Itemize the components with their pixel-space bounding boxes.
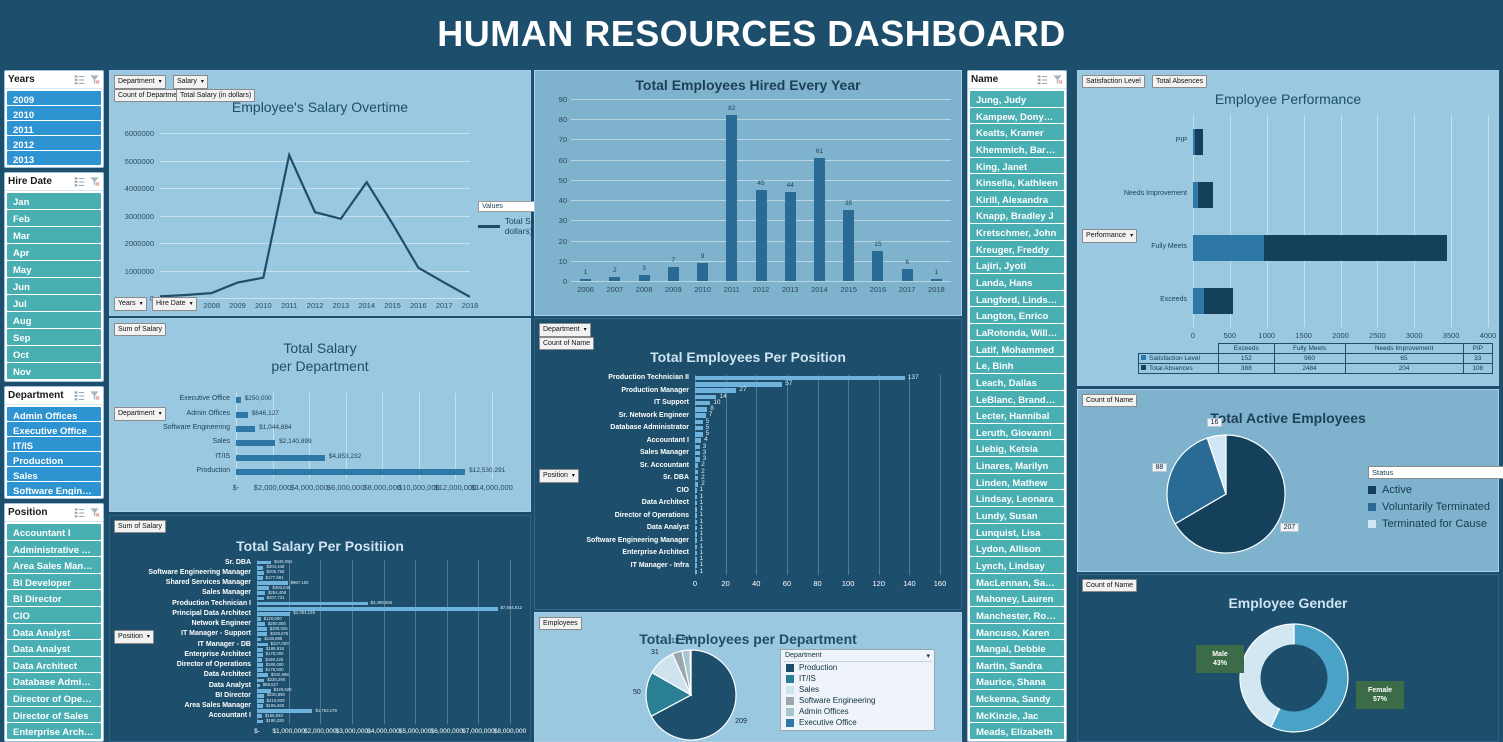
slicer-item[interactable]: Kampew, Donysha (970, 108, 1064, 124)
slicer-item[interactable]: Leach, Dallas (970, 374, 1064, 390)
multi-select-icon[interactable] (1037, 74, 1048, 85)
slicer-item[interactable]: Manchester, Robyn (970, 607, 1064, 623)
slicer-position-icons[interactable] (74, 507, 100, 518)
slicer-item[interactable]: Jan (7, 193, 101, 209)
slicer-item[interactable]: May (7, 261, 101, 277)
slicer-item[interactable]: Lindsay, Leonara (970, 490, 1064, 506)
slicer-item[interactable]: Latif, Mohammed (970, 341, 1064, 357)
legend-color-swatch (1368, 503, 1376, 511)
legend-rows: ProductionIT/ISSalesSoftware Engineering… (783, 662, 932, 728)
bar-value-label: $1,044,884 (259, 424, 292, 431)
gridline (571, 119, 951, 120)
gridline (571, 281, 951, 282)
slicer-item[interactable]: Sep (7, 329, 101, 345)
slicer-hire-date[interactable]: Hire Date JanFebMarAprMayJunJulAugSepOct… (4, 172, 104, 382)
bar (257, 591, 265, 595)
chart-title-line1: Total Salary (110, 339, 530, 357)
bar (814, 158, 825, 281)
gridline (455, 393, 456, 479)
slicer-item[interactable]: Lecter, Hannibal (970, 407, 1064, 423)
chevron-down-icon[interactable]: ▾ (926, 652, 930, 660)
legend-color-swatch (786, 686, 794, 694)
chart-title-line2: per Department (110, 357, 530, 375)
legend-item[interactable]: Active (1368, 484, 1503, 496)
gridline (787, 375, 788, 575)
slicer-name[interactable]: Name Jung, JudyKampew, DonyshaKeatts, Kr… (967, 70, 1067, 742)
bar (695, 545, 697, 550)
category-label: BI Director (61, 692, 251, 699)
field-button-total-absences[interactable]: Total Absences (1152, 75, 1207, 88)
slicer-item[interactable]: Langton, Enrico (970, 307, 1064, 323)
y-tick-label: 2000000 (94, 239, 154, 248)
category-label: Network Engineer (61, 620, 251, 627)
x-tick-label: 2010 (688, 285, 717, 294)
bar-value-label: $195,460 (266, 703, 284, 708)
slicer-item[interactable]: Jung, Judy (970, 91, 1064, 107)
legend-item: Software Engineering (783, 695, 932, 706)
category-label: Director of Operations (61, 661, 251, 668)
chevron-down-icon: ▾ (159, 79, 162, 85)
bar (695, 420, 703, 425)
bar (697, 263, 708, 281)
bar-plot-area: $-$1,000,000$2,000,000$3,000,000$4,000,0… (257, 560, 510, 724)
bar-value-label: $1,753,179 (315, 708, 337, 713)
y-tick-label: 80 (545, 115, 567, 124)
bar (257, 684, 260, 688)
pie-svg (1166, 434, 1286, 554)
multi-select-icon[interactable] (74, 74, 85, 85)
bar (843, 210, 854, 281)
slicer-item[interactable]: 2010 (7, 106, 101, 120)
status-legend[interactable]: Status ▾ ActiveVoluntarily TerminatedTer… (1368, 466, 1503, 530)
legend-color-swatch (786, 719, 794, 727)
pie-svg (645, 649, 737, 741)
gridline (571, 99, 951, 100)
gridline (848, 375, 849, 575)
x-tick-label: 2008 (199, 301, 225, 310)
table-header-row: ExceedsFully MeetsNeeds ImprovementPIP (1139, 344, 1493, 354)
legend-item: Executive Office (783, 717, 932, 728)
y-tick-label: 40 (545, 196, 567, 205)
x-tick-label: 2008 (629, 285, 658, 294)
slicer-item[interactable]: Landa, Hans (970, 274, 1064, 290)
bar (695, 526, 697, 531)
category-label: CIO (514, 487, 689, 494)
x-tick-label: 2011 (717, 285, 746, 294)
bar-value-label: 45 (747, 180, 776, 187)
gender-male-percent: 43% (1202, 659, 1238, 668)
slicer-name-list[interactable]: Jung, JudyKampew, DonyshaKeatts, KramerK… (968, 89, 1066, 741)
x-tick-label: $14,000,000 (466, 483, 518, 492)
slicer-item[interactable]: Accountant I (7, 524, 101, 540)
x-tick-label: 500 (1214, 331, 1246, 340)
bar-value-label: $4,853,232 (329, 453, 362, 460)
bar-value-label: $7,604,812 (501, 605, 523, 610)
slicer-name-icons[interactable] (1037, 74, 1063, 85)
status-select-value: Status (1372, 468, 1393, 477)
gender-label-male: Male 43% (1196, 645, 1244, 673)
slicer-item[interactable]: Martin, Sandra (970, 657, 1064, 673)
chart-title: Total Salary per Department (110, 333, 530, 375)
legend-item[interactable]: Terminated for Cause (1368, 518, 1503, 530)
donut-plot-area (1239, 623, 1349, 733)
gridline (384, 560, 385, 724)
slicer-years-icons[interactable] (74, 74, 100, 85)
bar (236, 426, 255, 432)
x-tick-label: 2016 (863, 285, 892, 294)
slicer-item[interactable]: Apr (7, 244, 101, 260)
x-tick-label: 2006 (571, 285, 600, 294)
category-label: Needs Improvement (1062, 190, 1187, 197)
chevron-down-icon: ▾ (584, 327, 587, 333)
bar-value-label: 27 (739, 386, 746, 393)
gridline (236, 393, 237, 479)
bar-value-label: 2 (600, 267, 629, 274)
bar (257, 597, 264, 601)
slicer-item[interactable]: Kreuger, Freddy (970, 241, 1064, 257)
table-corner (1139, 344, 1219, 354)
bar (257, 653, 263, 657)
slicer-item[interactable]: Mckenna, Sandy (970, 690, 1064, 706)
bar (257, 694, 264, 698)
x-tick-label: 3000 (1398, 331, 1430, 340)
slicer-item[interactable]: Le, Binh (970, 357, 1064, 373)
bar-segment (1198, 182, 1213, 208)
slicer-department-list[interactable]: Admin OfficesExecutive OfficeIT/ISProduc… (5, 405, 103, 498)
gridline (909, 375, 910, 575)
gridline (1488, 115, 1489, 327)
field-button-department[interactable]: Department▾ (114, 75, 166, 89)
y-tick-label: 10 (545, 257, 567, 266)
x-tick-label: 100 (836, 579, 860, 588)
category-label: IT Manager - DB (61, 641, 251, 648)
clear-filter-icon[interactable] (89, 507, 100, 518)
field-button-hire-date[interactable]: Hire Date▾ (152, 297, 197, 311)
table-row: Total Absences3882484204108 (1139, 364, 1493, 374)
gender-male-name: Male (1202, 650, 1238, 659)
slicer-item[interactable]: Administrative Assist... (7, 541, 101, 557)
slicer-item[interactable]: Leruth, Giovanni (970, 424, 1064, 440)
gridline (756, 375, 757, 575)
pie-value-label: 88 (1152, 463, 1168, 472)
field-button-satisfaction-level[interactable]: Satisfaction Level (1082, 75, 1145, 88)
slicer-item[interactable]: Kretschmer, John (970, 224, 1064, 240)
slicer-item[interactable]: Lajiri, Jyoti (970, 257, 1064, 273)
x-tick-label: 60 (775, 579, 799, 588)
line-plot-area: 0100000020000003000000400000050000006000… (160, 133, 470, 298)
field-button-department-legend[interactable]: Department▾ (539, 323, 591, 337)
field-button-salary[interactable]: Salary▾ (173, 75, 208, 89)
gridline (879, 375, 880, 575)
chevron-down-icon: ▾ (140, 301, 143, 307)
slicer-hire-date-list[interactable]: JanFebMarAprMayJunJulAugSepOctNov (5, 191, 103, 381)
x-tick-label: 80 (806, 579, 830, 588)
category-label: Data Architect (61, 671, 251, 678)
slicer-item[interactable]: Mahoney, Lauren (970, 590, 1064, 606)
y-tick-label: 3000000 (94, 212, 154, 221)
field-button-sum-of-salary[interactable]: Sum of Salary (114, 323, 166, 336)
legend-item: Production (783, 662, 932, 673)
chevron-down-icon: ▾ (190, 301, 193, 307)
category-label: Director of Operations (514, 512, 689, 519)
slicer-item[interactable]: Knapp, Bradley J (970, 207, 1064, 223)
x-tick-label: 2010 (250, 301, 276, 310)
slicer-item[interactable]: Mangal, Debbie (970, 640, 1064, 656)
gridline (346, 393, 347, 479)
category-label: Software Engineering (80, 424, 230, 431)
department-pie-legend[interactable]: Department ▾ ProductionIT/ISSalesSoftwar… (780, 649, 935, 731)
category-label: Production Manager (514, 387, 689, 394)
bar (257, 576, 263, 580)
table-row-label: Satisfaction Level (1139, 354, 1219, 364)
legend-label: Software Engineering (799, 696, 876, 705)
category-label: Fully Meets (1062, 243, 1187, 250)
bar-segment (1193, 288, 1204, 314)
slicer-item[interactable]: Jul (7, 295, 101, 311)
table-cell: 2484 (1274, 364, 1345, 374)
slicer-item[interactable]: 2013 (7, 151, 101, 165)
series-color-swatch (1141, 355, 1146, 360)
slicer-item[interactable]: LaRotonda, William (970, 324, 1064, 340)
bar (695, 457, 700, 462)
slicer-item[interactable]: Nov (7, 363, 101, 379)
slicer-item[interactable]: Linden, Mathew (970, 474, 1064, 490)
field-button-performance-axis[interactable]: Performance▾ (1082, 229, 1137, 243)
slicer-years-title: Years (8, 74, 74, 85)
bar (695, 432, 703, 437)
bar-plot-area: $-$2,000,000$4,000,000$6,000,000$8,000,0… (236, 393, 492, 479)
gridline (1414, 115, 1415, 327)
category-label: Admin Offices (80, 410, 230, 417)
x-tick-label: 2013 (328, 301, 354, 310)
slicer-item[interactable]: Software Engineering (7, 482, 101, 496)
x-tick-label: 2000 (1325, 331, 1357, 340)
bar (931, 279, 942, 281)
slicer-item[interactable]: Enterprise Architect (7, 723, 101, 739)
bar-value-label: 15 (863, 241, 892, 248)
gridline (309, 393, 310, 479)
bar (609, 277, 620, 281)
bar (257, 699, 264, 703)
slicer-item[interactable]: 2011 (7, 121, 101, 135)
legend-header[interactable]: Department ▾ (783, 652, 932, 662)
gender-female-percent: 57% (1362, 695, 1398, 704)
legend-label: Production (799, 663, 837, 672)
field-button-count-of-name[interactable]: Count of Name (1082, 394, 1137, 407)
y-tick-label: 5000000 (94, 157, 154, 166)
bar-value-label: 57 (785, 380, 792, 387)
bar-value-label: $646,127 (252, 410, 279, 417)
category-label: Software Engineering Manager (61, 569, 251, 576)
slicer-item[interactable]: Aug (7, 312, 101, 328)
stacked-bar-plot-area: 05001000150020002500300035004000PIPNeeds… (1193, 115, 1488, 327)
chart-total-active-employees: Count of Name Total Active Employees 207… (1077, 389, 1499, 572)
category-label: Exceeds (1062, 296, 1187, 303)
slicer-item[interactable]: LeBlanc, Brandon R (970, 391, 1064, 407)
pie-value-label: 1 (684, 635, 694, 642)
slicer-item[interactable]: Meads, Elizabeth (970, 723, 1064, 739)
chevron-down-icon: ▾ (1130, 233, 1133, 239)
slicer-years-list[interactable]: 20092010201120122013 (5, 89, 103, 167)
bar-value-label: 3 (630, 265, 659, 272)
slicer-item[interactable]: Lydon, Allison (970, 540, 1064, 556)
gridline (273, 393, 274, 479)
legend-label: Terminated for Cause (1382, 518, 1487, 530)
x-tick-label: 2009 (659, 285, 688, 294)
category-label: IT/IS (80, 453, 230, 460)
bar (695, 495, 697, 500)
x-tick-label: 2016 (405, 301, 431, 310)
bar-value-label: $207,731 (267, 595, 285, 600)
slicer-item[interactable]: Lunquist, Lisa (970, 524, 1064, 540)
page-title: HUMAN RESOURCES DASHBOARD (437, 13, 1066, 55)
bar (257, 673, 268, 677)
bar-segment (1264, 235, 1447, 261)
bar (695, 438, 701, 443)
pie-plot-area: 2078816 (1166, 434, 1286, 554)
bar (695, 563, 697, 568)
legend-label: IT/IS (799, 674, 816, 683)
bar-segment (1193, 235, 1264, 261)
chart-hired-every-year: Total Employees Hired Every Year 0102030… (534, 70, 962, 316)
x-tick-label: 2018 (922, 285, 951, 294)
dashboard-header: HUMAN RESOURCES DASHBOARD (0, 0, 1503, 68)
slicer-item[interactable]: Linares, Marilyn (970, 457, 1064, 473)
bar (695, 388, 736, 393)
clear-filter-icon[interactable] (89, 74, 100, 85)
field-button-years[interactable]: Years▾ (114, 297, 147, 311)
bar-plot-area: 0204060801001201401601375727141087555433… (695, 375, 940, 575)
x-tick-label: 1500 (1288, 331, 1320, 340)
slicer-item[interactable]: MacLennan, Samuel (970, 574, 1064, 590)
slicer-item[interactable]: Kirill, Alexandra (970, 191, 1064, 207)
bar-value-label: 61 (805, 148, 834, 155)
gridline (320, 560, 321, 724)
x-tick-label: 2500 (1361, 331, 1393, 340)
slicer-item[interactable]: Mar (7, 227, 101, 243)
slicer-item[interactable]: McKinzie, Jac (970, 707, 1064, 723)
category-label: Accountant I (514, 437, 689, 444)
bar (695, 445, 700, 450)
bar (257, 658, 262, 662)
slicer-item[interactable]: Lynch, Lindsay (970, 557, 1064, 573)
x-tick-label: 2015 (380, 301, 406, 310)
x-tick-label: 40 (744, 579, 768, 588)
bar (257, 714, 262, 718)
x-tick-label: 4000 (1472, 331, 1503, 340)
slicer-item[interactable]: Mancuso, Karen (970, 624, 1064, 640)
y-tick-label: 30 (545, 216, 567, 225)
x-tick-label: $8,000,000 (486, 728, 534, 735)
bar (257, 638, 261, 642)
bar (695, 463, 698, 468)
slicer-item[interactable]: Lundy, Susan (970, 507, 1064, 523)
legend-label: Active (1382, 484, 1412, 496)
gridline (726, 375, 727, 575)
status-select[interactable]: Status ▾ (1368, 466, 1503, 479)
x-tick-label: 2012 (746, 285, 775, 294)
category-label: Data Architect (514, 499, 689, 506)
category-label: Enterprise Architect (514, 549, 689, 556)
slicer-item[interactable]: Kinsella, Kathleen (970, 174, 1064, 190)
x-tick-label: 2017 (431, 301, 457, 310)
slicer-item[interactable]: 2009 (7, 91, 101, 105)
field-button-sum-of-salary[interactable]: Sum of Salary (114, 520, 166, 533)
table-cell: 65 (1345, 354, 1463, 364)
table-cell: 960 (1274, 354, 1345, 364)
bar (257, 571, 264, 575)
bar (257, 720, 263, 724)
y-tick-label: 6000000 (94, 129, 154, 138)
slicer-item[interactable]: Keatts, Kramer (970, 124, 1064, 140)
chart-title: Employee Gender (1078, 589, 1498, 611)
bar (257, 627, 267, 631)
x-tick-label: 0 (683, 579, 707, 588)
field-button-employees[interactable]: Employees (539, 617, 582, 630)
slicer-item[interactable]: Oct (7, 346, 101, 362)
slicer-item[interactable]: 2012 (7, 136, 101, 150)
slicer-item[interactable]: King, Janet (970, 158, 1064, 174)
bar-segment (1195, 129, 1203, 155)
table-cell: 108 (1463, 364, 1492, 374)
line-series-total-salary (160, 133, 470, 298)
chart-employee-performance: Satisfaction Level Total Absences Employ… (1077, 70, 1499, 386)
slicer-hire-date-title: Hire Date (8, 176, 74, 187)
x-tick-label: 2014 (354, 301, 380, 310)
category-label: Enterprise Architect (61, 651, 251, 658)
y-tick-label: 70 (545, 135, 567, 144)
field-button-count-of-name[interactable]: Count of Name (1082, 579, 1137, 592)
bar (257, 704, 263, 708)
slicer-item[interactable]: Langford, Lindsey (970, 291, 1064, 307)
slicer-item[interactable]: Maurice, Shana (970, 673, 1064, 689)
chart-title: Total Employees Hired Every Year (535, 71, 961, 93)
slicer-item[interactable]: Feb (7, 210, 101, 226)
column-plot-area: 0102030405060708090120062200732008720099… (571, 99, 951, 281)
multi-select-icon[interactable] (74, 507, 85, 518)
legend-label: Sales (799, 685, 819, 694)
slicer-hire-date-header: Hire Date (5, 173, 103, 191)
chart-total-salary-per-department: Sum of Salary Total Salary per Departmen… (109, 318, 531, 512)
pie-value-label: 16 (1207, 418, 1223, 427)
clear-filter-icon[interactable] (1052, 74, 1063, 85)
slicer-item[interactable]: Khemmich, Bartholem... (970, 141, 1064, 157)
bar-value-label: $967,192 (291, 580, 309, 585)
slicer-item[interactable]: Jun (7, 278, 101, 294)
bar-value-label: $177,691 (266, 575, 284, 580)
bar (257, 566, 263, 570)
bar (695, 538, 697, 543)
slicer-years[interactable]: Years 20092010201120122013 (4, 70, 104, 168)
category-label: Production Technician II (514, 374, 689, 381)
table-column-header: Fully Meets (1274, 344, 1345, 354)
multi-select-icon[interactable] (74, 176, 85, 187)
legend-color-swatch (786, 664, 794, 672)
category-label: Executive Office (80, 395, 230, 402)
legend-item[interactable]: Voluntarily Terminated (1368, 501, 1503, 513)
bar-value-label: $2,140,899 (279, 438, 312, 445)
bar (872, 251, 883, 281)
table-row: Satisfaction Level1529606533 (1139, 354, 1493, 364)
bar (726, 115, 737, 281)
field-button-count-of-name[interactable]: Count of Name (539, 337, 594, 350)
x-tick-label: 2013 (776, 285, 805, 294)
field-button-total-salary[interactable]: Total Salary (in dollars) (176, 89, 255, 102)
slicer-item[interactable]: Liebig, Ketsia (970, 440, 1064, 456)
x-tick-label: 2014 (805, 285, 834, 294)
category-label: Area Sales Manager (61, 702, 251, 709)
chart-title: Total Active Employees (1078, 404, 1498, 426)
